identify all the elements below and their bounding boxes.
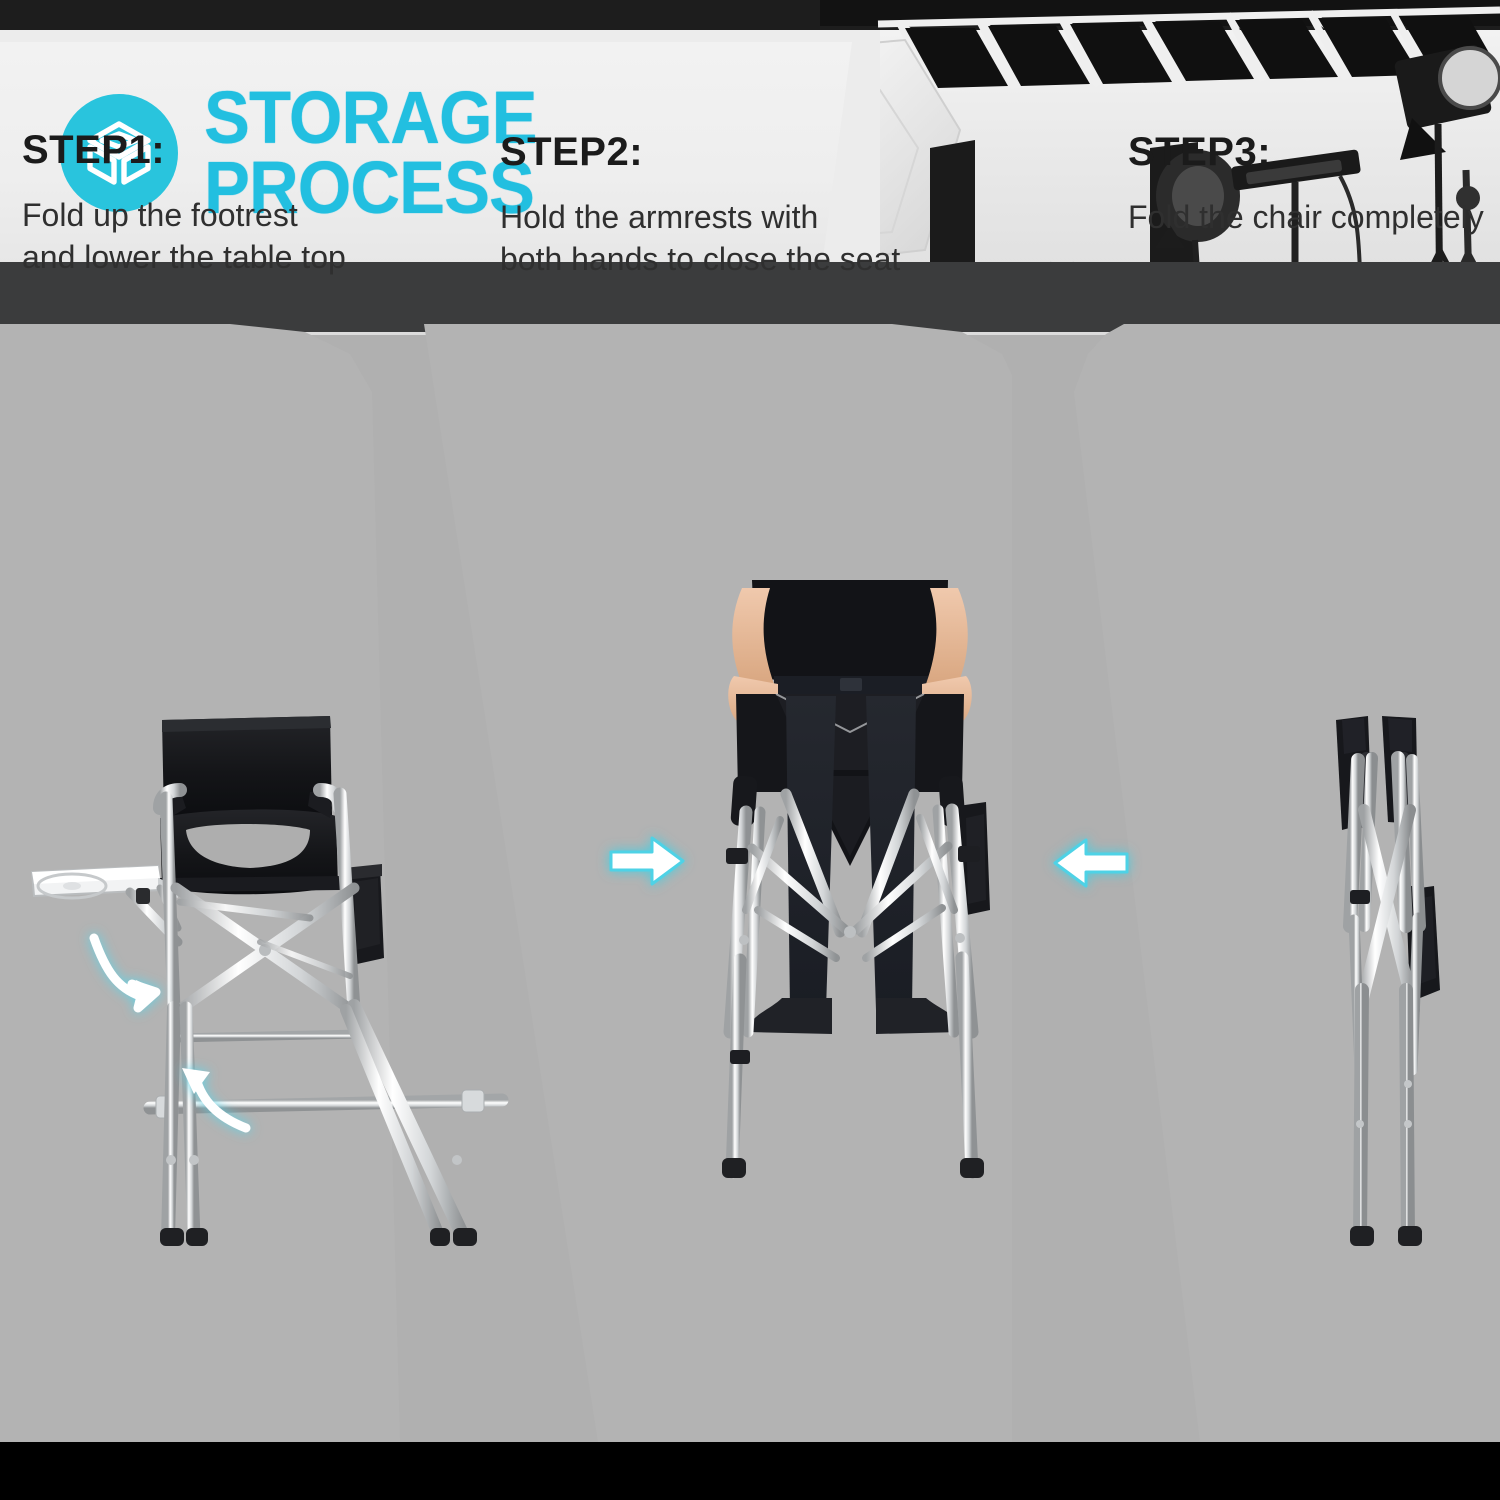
step-3-figure-folded-chair	[1302, 690, 1492, 1295]
arrow-step1-to-step2-icon	[608, 834, 686, 893]
step-2-text: STEP2: Hold the armrests with both hands…	[500, 130, 900, 280]
step-1-figure-chair	[10, 690, 530, 1295]
step-1-text: STEP1: Fold up the footrest and lower th…	[22, 128, 346, 278]
step-1-description: Fold up the footrest and lower the table…	[22, 195, 346, 278]
motion-arrow-table	[94, 938, 160, 1008]
step-2-description: Hold the armrests with both hands to clo…	[500, 197, 900, 280]
step-3-description: Fold the chair completely	[1128, 197, 1484, 239]
step-2-title: STEP2:	[500, 130, 900, 175]
step-2-figure-person-closing-chair	[690, 580, 1010, 1285]
arrow-step3-to-step2-icon	[1052, 836, 1130, 895]
step-3-text: STEP3: Fold the chair completely	[1128, 130, 1484, 239]
step-1-title: STEP1:	[22, 128, 346, 173]
bottom-bar	[0, 1442, 1500, 1500]
step-3-title: STEP3:	[1128, 130, 1484, 175]
infographic-canvas: STORAGE PROCESS STEP1: Fold up the footr…	[0, 0, 1500, 1500]
